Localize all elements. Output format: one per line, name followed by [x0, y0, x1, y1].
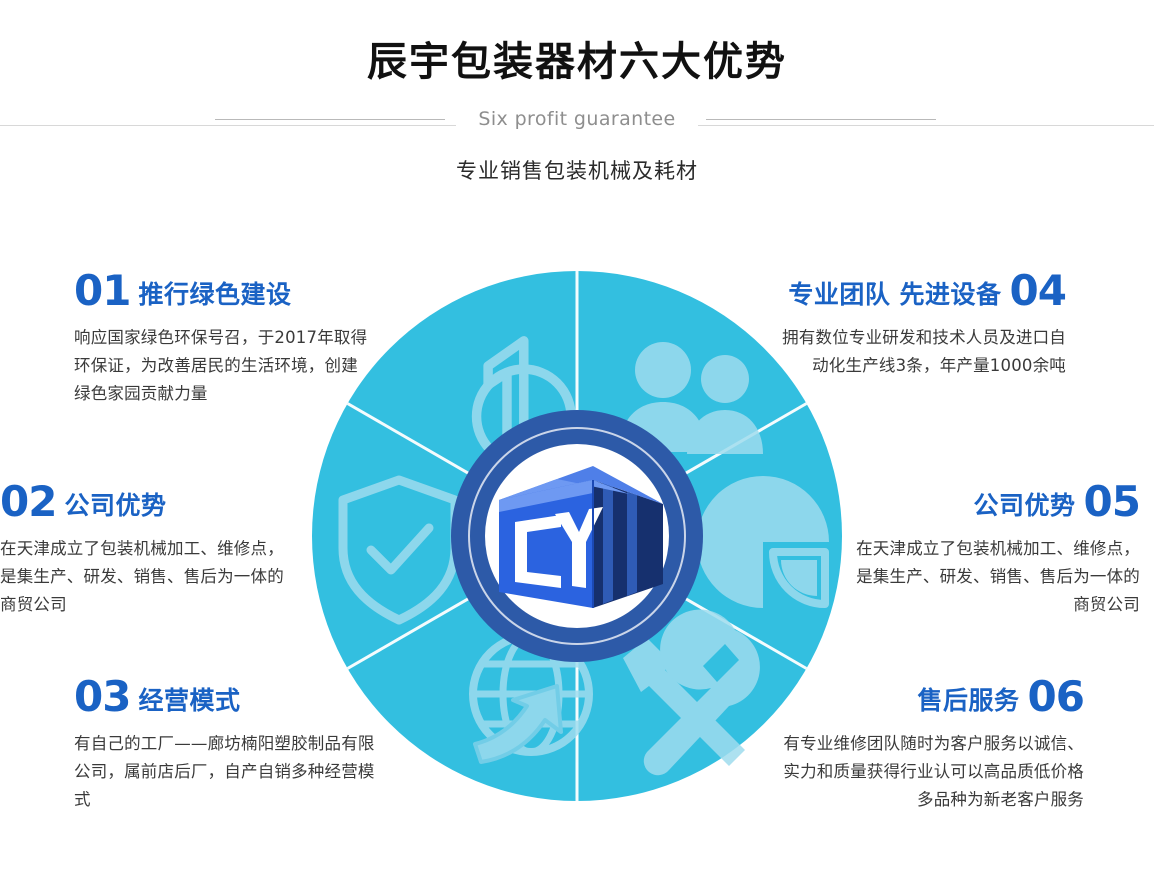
- feature-heading-03: 03经营模式: [74, 672, 380, 721]
- subtitle-chinese: 专业销售包装机械及耗材: [0, 155, 1154, 185]
- feature-heading-05: 公司优势05: [840, 477, 1140, 526]
- feature-number-03: 03: [74, 672, 130, 721]
- feature-block-03: 03经营模式 有自己的工厂——廊坊楠阳塑胶制品有限公司，属前店后厂，自产自销多种…: [74, 672, 380, 814]
- subtitle-english-text: Six profit guarantee: [456, 108, 697, 130]
- feature-body-04: 拥有数位专业研发和技术人员及进口自动化生产线3条，年产量1000余吨: [772, 324, 1066, 380]
- feature-block-02: 02公司优势 在天津成立了包装机械加工、维修点，是集生产、研发、销售、售后为一体…: [0, 477, 292, 619]
- feature-block-01: 01推行绿色建设 响应国家绿色环保号召，于2017年取得环保证，为改善居民的生活…: [74, 266, 374, 408]
- pie-chart-icon: [697, 476, 829, 608]
- page-title: 辰宇包装器材六大优势: [0, 36, 1154, 88]
- page-header: 辰宇包装器材六大优势 Six profit guarantee 专业销售包装机械…: [0, 0, 1154, 200]
- feature-label-04: 专业团队 先进设备: [788, 280, 1001, 309]
- feature-number-01: 01: [74, 266, 130, 315]
- feature-number-05: 05: [1084, 477, 1140, 526]
- feature-label-01: 推行绿色建设: [138, 280, 291, 309]
- feature-label-06: 售后服务: [918, 686, 1020, 715]
- title-divider: Six profit guarantee: [0, 108, 1154, 142]
- feature-block-06: 售后服务06 有专业维修团队随时为客户服务以诚信、实力和质量获得行业认可以高品质…: [772, 672, 1084, 814]
- feature-heading-01: 01推行绿色建设: [74, 266, 374, 315]
- feature-body-03: 有自己的工厂——廊坊楠阳塑胶制品有限公司，属前店后厂，自产自销多种经营模式: [74, 730, 380, 814]
- feature-heading-06: 售后服务06: [772, 672, 1084, 721]
- feature-number-02: 02: [0, 477, 56, 526]
- feature-body-05: 在天津成立了包装机械加工、维修点，是集生产、研发、销售、售后为一体的商贸公司: [840, 535, 1140, 619]
- feature-body-06: 有专业维修团队随时为客户服务以诚信、实力和质量获得行业认可以高品质低价格多品种为…: [772, 730, 1084, 814]
- subtitle-english: Six profit guarantee: [0, 108, 1154, 130]
- feature-body-01: 响应国家绿色环保号召，于2017年取得环保证，为改善居民的生活环境，创建绿色家园…: [74, 324, 374, 408]
- feature-body-02: 在天津成立了包装机械加工、维修点，是集生产、研发、销售、售后为一体的商贸公司: [0, 535, 292, 619]
- feature-label-05: 公司优势: [974, 491, 1076, 520]
- feature-heading-02: 02公司优势: [0, 477, 292, 526]
- feature-heading-04: 专业团队 先进设备04: [772, 266, 1066, 315]
- feature-label-02: 公司优势: [64, 491, 166, 520]
- feature-number-06: 06: [1028, 672, 1084, 721]
- feature-block-04: 专业团队 先进设备04 拥有数位专业研发和技术人员及进口自动化生产线3条，年产量…: [772, 266, 1066, 380]
- feature-label-03: 经营模式: [138, 686, 240, 715]
- feature-block-05: 公司优势05 在天津成立了包装机械加工、维修点，是集生产、研发、销售、售后为一体…: [840, 477, 1140, 619]
- feature-number-04: 04: [1010, 266, 1066, 315]
